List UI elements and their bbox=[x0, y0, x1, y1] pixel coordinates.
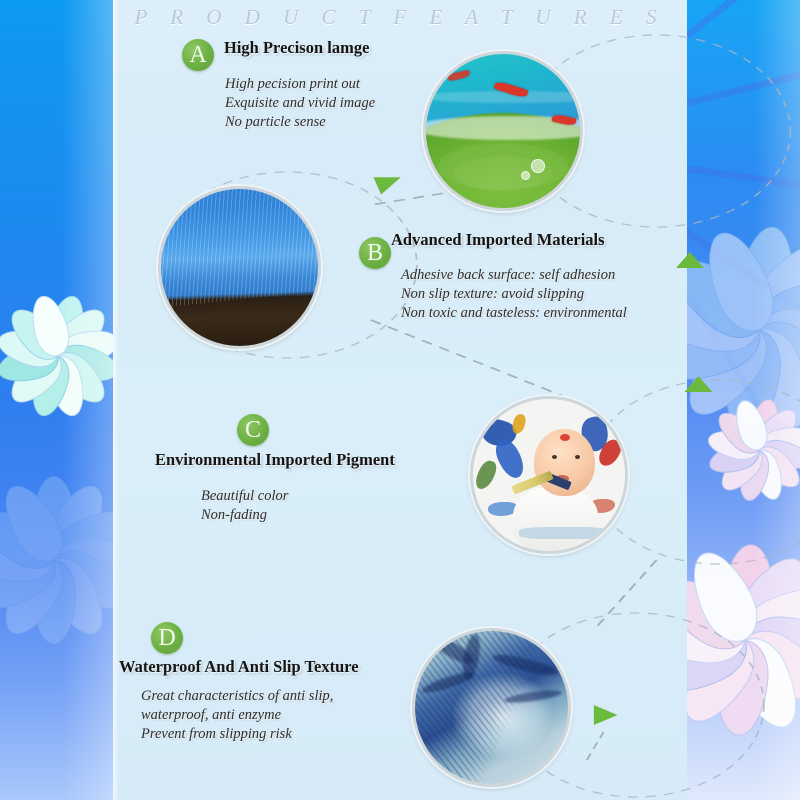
connector-d-tail bbox=[587, 732, 604, 760]
feature-line: Beautiful color bbox=[201, 487, 288, 506]
arrow-head-d bbox=[594, 705, 618, 725]
left-border-shade bbox=[0, 0, 113, 800]
feature-badge-a: A bbox=[182, 39, 214, 71]
main-panel: P R O D U C T F E A T U R E S A bbox=[113, 0, 687, 800]
feature-lines-b: Adhesive back surface: self adhesion Non… bbox=[401, 266, 627, 323]
feature-photo-a bbox=[423, 51, 583, 211]
right-border-shade bbox=[687, 0, 800, 800]
feature-line: High pecision print out bbox=[225, 75, 375, 94]
feature-line: Exquisite and vivid image bbox=[225, 94, 375, 113]
infographic-canvas: P R O D U C T F E A T U R E S A bbox=[0, 0, 800, 800]
feature-title-a: High Precison lamge bbox=[224, 38, 369, 58]
feature-line: Non toxic and tasteless: environmental bbox=[401, 304, 627, 323]
feature-line: Adhesive back surface: self adhesion bbox=[401, 266, 627, 285]
right-decorative-border bbox=[687, 0, 800, 800]
arrow-head-a bbox=[371, 170, 407, 195]
feature-photo-c bbox=[470, 396, 628, 554]
feature-title-b: Advanced Imported Materials bbox=[391, 230, 605, 250]
feature-line: Non-fading bbox=[201, 506, 288, 525]
left-decorative-border bbox=[0, 0, 113, 800]
feature-badge-b: B bbox=[359, 237, 391, 269]
feature-badge-c: C bbox=[237, 414, 269, 446]
feature-title-c: Environmental Imported Pigment bbox=[155, 450, 395, 470]
feature-line: No particle sense bbox=[225, 113, 375, 132]
connector-c-d bbox=[594, 560, 657, 630]
connector-b-c bbox=[371, 320, 573, 400]
feature-line: Great characteristics of anti slip, bbox=[141, 687, 333, 706]
feature-photo-d bbox=[412, 628, 571, 787]
feature-line: waterproof, anti enzyme bbox=[141, 706, 333, 725]
feature-lines-a: High pecision print out Exquisite and vi… bbox=[225, 75, 375, 132]
feature-line: Non slip texture: avoid slipping bbox=[401, 285, 627, 304]
feature-badge-d: D bbox=[151, 622, 183, 654]
feature-title-d: Waterproof And Anti Slip Texture bbox=[119, 657, 359, 677]
page-title: P R O D U C T F E A T U R E S bbox=[113, 5, 687, 30]
feature-line: Prevent from slipping risk bbox=[141, 725, 333, 744]
feature-photo-b bbox=[158, 186, 321, 349]
feature-lines-d: Great characteristics of anti slip, wate… bbox=[141, 687, 333, 744]
feature-lines-c: Beautiful color Non-fading bbox=[201, 487, 288, 525]
